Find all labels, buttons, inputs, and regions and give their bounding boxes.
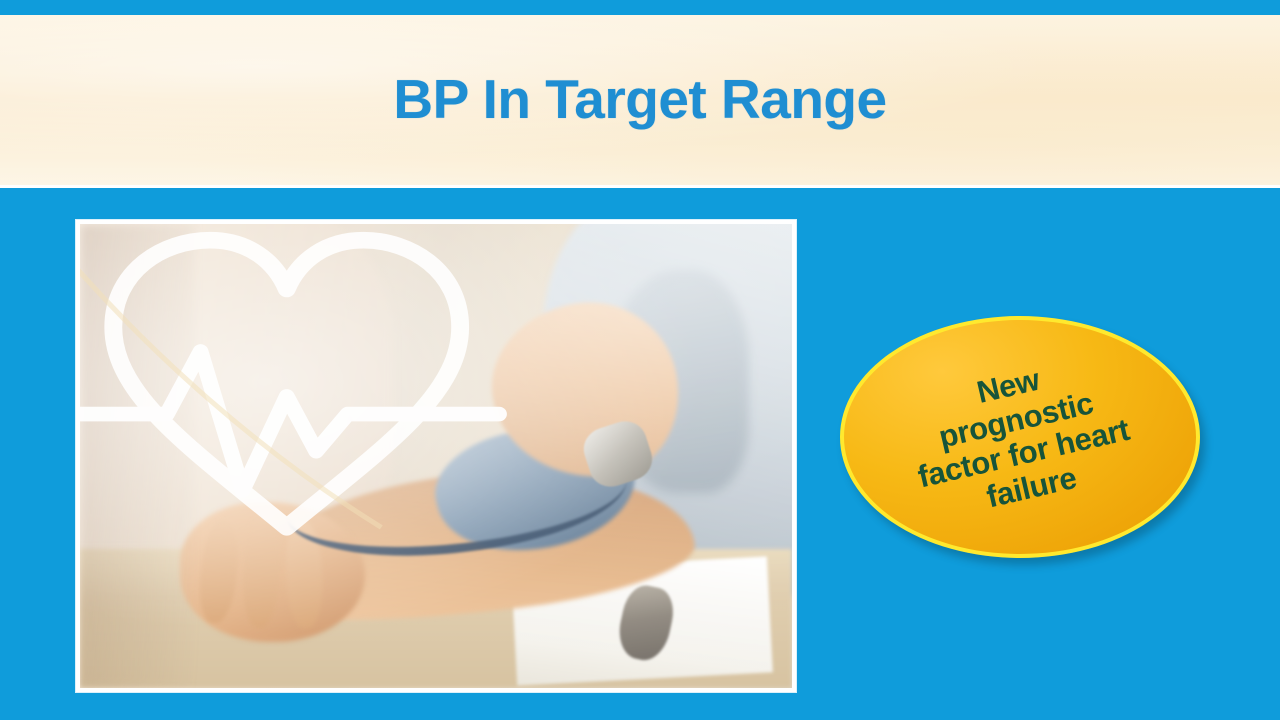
status-badge: New prognostic factor for heart failure [840, 316, 1200, 558]
top-accent-strip [0, 0, 1280, 15]
slide-canvas: BP In Target Range [0, 0, 1280, 720]
photo-frame [76, 220, 796, 692]
page-title: BP In Target Range [393, 72, 886, 131]
title-banner: BP In Target Range [0, 15, 1280, 188]
blood-pressure-photo [80, 224, 792, 688]
heart-ekg-icon [80, 224, 507, 577]
badge-text: New prognostic factor for heart failure [863, 337, 1177, 538]
